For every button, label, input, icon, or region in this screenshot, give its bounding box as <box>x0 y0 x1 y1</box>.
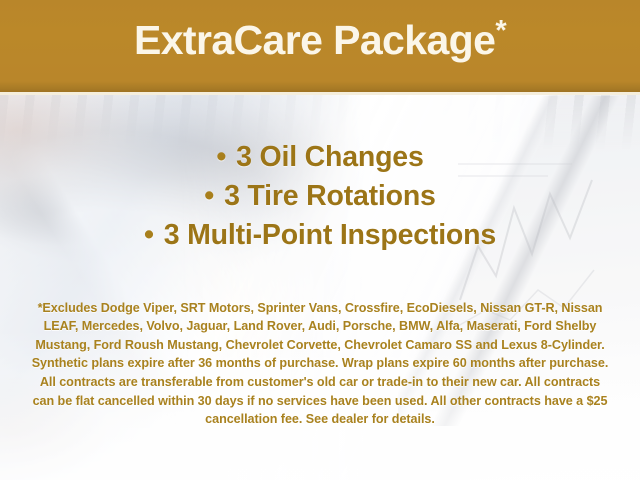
page-title-text: ExtraCare Package <box>134 17 495 63</box>
list-item: 3 Tire Rotations <box>0 177 640 216</box>
benefits-list: 3 Oil Changes 3 Tire Rotations 3 Multi-P… <box>0 138 640 255</box>
list-item: 3 Oil Changes <box>0 138 640 177</box>
legal-fine-print: *Excludes Dodge Viper, SRT Motors, Sprin… <box>30 299 610 429</box>
list-item: 3 Multi-Point Inspections <box>0 216 640 255</box>
page-title: ExtraCare Package* <box>0 17 640 61</box>
header-band: ExtraCare Package* <box>0 0 640 92</box>
extracare-package-card: ExtraCare Package* 3 Oil Changes 3 Tire … <box>0 0 640 480</box>
page-title-asterisk: * <box>495 15 506 47</box>
